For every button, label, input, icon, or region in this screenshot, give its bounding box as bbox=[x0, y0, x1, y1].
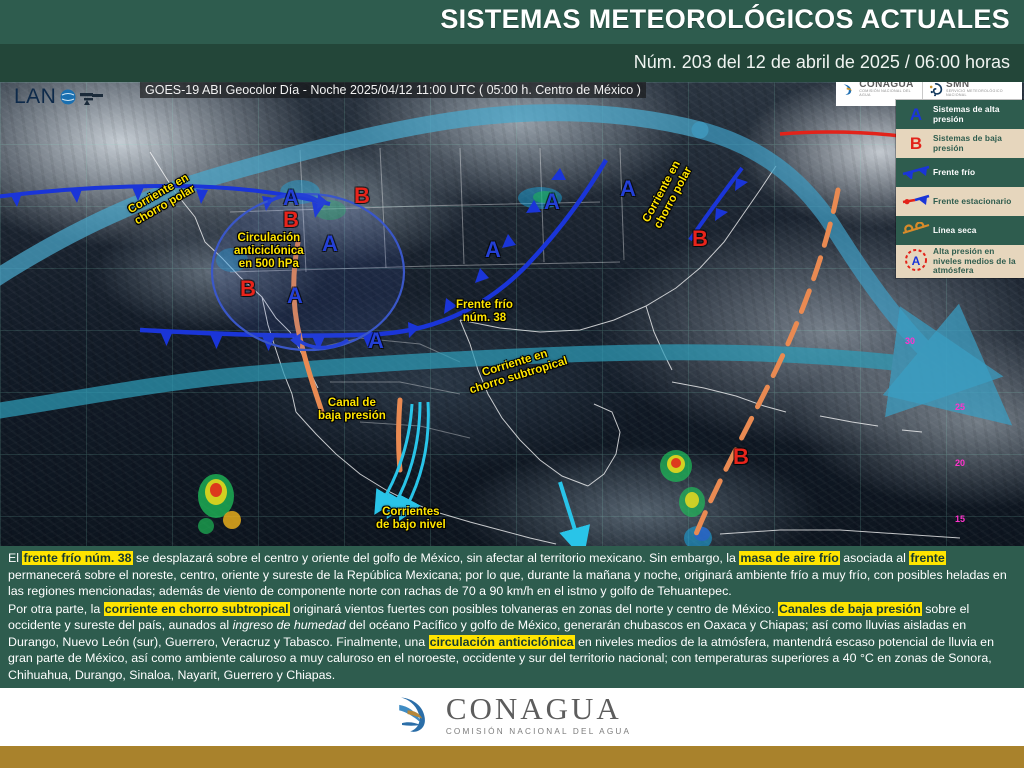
pressure-marker-a-6: A bbox=[620, 178, 636, 200]
legend-item-1[interactable]: BSistemas de baja presión bbox=[896, 129, 1024, 158]
bulletin-text: El frente frío núm. 38 se desplazará sob… bbox=[0, 546, 1024, 688]
legend-label-0: Sistemas de alta presión bbox=[933, 105, 1021, 124]
pressure-marker-a-0: A bbox=[283, 187, 299, 209]
pressure-marker-a-3: A bbox=[322, 233, 338, 255]
conagua-mini-sub: COMISIÓN NACIONAL DEL AGUA bbox=[859, 90, 917, 97]
pressure-marker-b-11: B bbox=[733, 446, 749, 468]
conagua-mini-logo: CONAGUA COMISIÓN NACIONAL DEL AGUA bbox=[841, 82, 917, 98]
legend-item-2[interactable]: Frente frío bbox=[896, 158, 1024, 187]
coord-label-2: 30 bbox=[905, 336, 915, 346]
bulletin-paragraph-1: Por otra parte, la corriente en chorro s… bbox=[8, 601, 1016, 684]
high-pressure-letter: A bbox=[910, 105, 922, 124]
pressure-marker-a-8: A bbox=[287, 285, 303, 307]
conagua-footer-logo: CONAGUA COMISIÓN NACIONAL DEL AGUA bbox=[393, 692, 631, 736]
stationary-front-icon bbox=[901, 193, 931, 208]
legend-label-4: Línea seca bbox=[933, 226, 976, 236]
dry-line-icon bbox=[901, 222, 931, 237]
lanot-logo: LAN bbox=[14, 85, 105, 109]
pressure-marker-b-10: B bbox=[692, 228, 708, 250]
logo-divider bbox=[922, 82, 923, 99]
lanot-label: LAN bbox=[14, 85, 56, 109]
satellite-icon bbox=[59, 87, 105, 107]
legend-item-5[interactable]: AAlta presión en niveles medios de la at… bbox=[896, 245, 1024, 278]
satellite-map[interactable]: LAN GOES-19 ABI Geocolor Día - Noche 202… bbox=[0, 82, 1024, 546]
legend-symbol-5: A bbox=[899, 248, 933, 275]
anticyclonic-circulation-ellipse bbox=[212, 194, 404, 350]
footer: CONAGUA COMISIÓN NACIONAL DEL AGUA bbox=[0, 688, 1024, 742]
legend-item-0[interactable]: ASistemas de alta presión bbox=[896, 100, 1024, 129]
smn-mini-logo: SMN SERVICIO METEOROLÓGICO NACIONAL bbox=[928, 82, 1017, 98]
conagua-footer-sub: COMISIÓN NACIONAL DEL AGUA bbox=[446, 727, 631, 736]
legend-label-2: Frente frío bbox=[933, 168, 975, 178]
map-annotation-6: Corrientesde bajo nivel bbox=[376, 506, 446, 532]
coord-label-4: 20 bbox=[955, 458, 965, 468]
header-subbar: Núm. 203 del 12 de abril de 2025 / 06:00… bbox=[0, 44, 1024, 82]
map-annotation-1: Circulaciónanticiclónicaen 500 hPa bbox=[234, 232, 304, 271]
header-bar: SISTEMAS METEOROLÓGICOS ACTUALES bbox=[0, 0, 1024, 44]
legend-item-4[interactable]: Línea seca bbox=[896, 216, 1024, 245]
map-legend[interactable]: ASistemas de alta presiónBSistemas de ba… bbox=[896, 100, 1024, 278]
page-title: SISTEMAS METEOROLÓGICOS ACTUALES bbox=[440, 4, 1010, 35]
coord-label-5: 15 bbox=[955, 514, 965, 524]
pressure-marker-b-7: B bbox=[240, 278, 256, 300]
pressure-marker-a-4: A bbox=[544, 191, 560, 213]
legend-symbol-2 bbox=[899, 164, 933, 182]
map-annotation-5: Canal debaja presión bbox=[318, 397, 386, 423]
legend-label-3: Frente estacionario bbox=[933, 197, 1011, 207]
weather-bulletin-page: SISTEMAS METEOROLÓGICOS ACTUALES Núm. 20… bbox=[0, 0, 1024, 768]
legend-item-3[interactable]: Frente estacionario bbox=[896, 187, 1024, 216]
low-level-currents-arrows bbox=[382, 402, 428, 508]
coord-label-3: 25 bbox=[955, 402, 965, 412]
footer-gold-bar bbox=[0, 746, 1024, 768]
conagua-footer-name: CONAGUA bbox=[446, 693, 631, 724]
smn-mini-sub: SERVICIO METEOROLÓGICO NACIONAL bbox=[946, 90, 1017, 97]
legend-symbol-0: A bbox=[899, 106, 933, 123]
mid-level-high-icon: A bbox=[901, 248, 931, 272]
pressure-marker-a-5: A bbox=[485, 239, 501, 261]
conagua-wave-icon bbox=[841, 82, 856, 98]
goes-caption: GOES-19 ABI Geocolor Día - Noche 2025/04… bbox=[140, 82, 646, 98]
pressure-marker-b-1: B bbox=[283, 209, 299, 231]
legend-symbol-3 bbox=[899, 193, 933, 211]
svg-text:A: A bbox=[912, 254, 921, 268]
pressure-marker-a-9: A bbox=[368, 330, 384, 352]
map-annotation-3: Frente fríonúm. 38 bbox=[456, 299, 513, 325]
legend-symbol-4 bbox=[899, 222, 933, 240]
low-pressure-trough-south bbox=[399, 400, 401, 470]
legend-label-1: Sistemas de baja presión bbox=[933, 134, 1021, 153]
conagua-logo-icon bbox=[393, 692, 437, 736]
bulletin-paragraph-0: El frente frío núm. 38 se desplazará sob… bbox=[8, 550, 1016, 600]
bulletin-number-date: Núm. 203 del 12 de abril de 2025 / 06:00… bbox=[634, 52, 1010, 73]
legend-symbol-1: B bbox=[899, 135, 933, 152]
low-pressure-letter: B bbox=[910, 134, 922, 153]
smn-spiral-icon bbox=[928, 82, 943, 98]
gulf-current-arrow bbox=[560, 482, 578, 540]
legend-label-5: Alta presión en niveles medios de la atm… bbox=[933, 247, 1021, 276]
pressure-marker-b-2: B bbox=[354, 185, 370, 207]
cold-front-icon bbox=[901, 164, 931, 179]
